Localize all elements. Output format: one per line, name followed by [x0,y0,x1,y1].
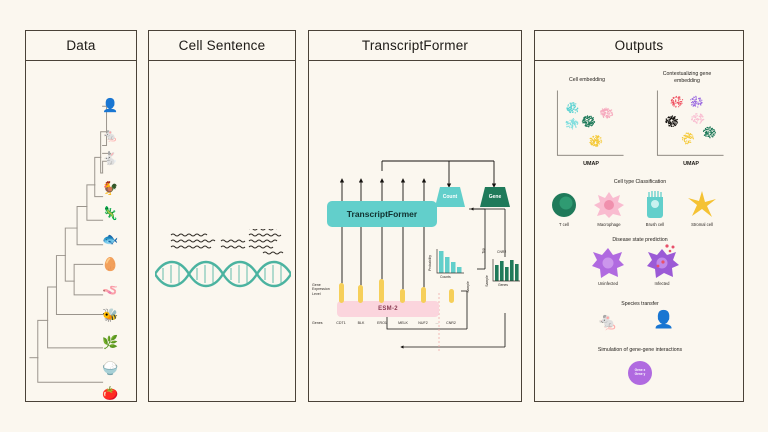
gene-name-label: ERO1 [377,321,387,325]
umap-cell-embedding [549,89,629,161]
sampled-gene-bar [449,289,454,303]
gene-expression-bar [358,285,363,303]
esm2-box: ESM-2 [337,301,439,317]
brush-cell-icon [643,191,667,219]
gene-head-label: Gene [489,194,502,200]
species-icon-tomato: 🍅 [102,387,118,400]
phylogenetic-tree [26,61,136,401]
cell-embedding-title: Cell embedding [569,77,605,83]
stromal-cell-icon [687,189,717,219]
gene-interaction-badge: Gene x Gene y [628,361,652,385]
genes-chart-xlabel: Genes [498,283,508,287]
counts-chart-ylabel: Probability [428,255,432,271]
species-icon-human: 👤 [102,99,118,112]
species-transfer-title: Species transfer [621,301,658,307]
infected-label: Infected [655,281,670,286]
panel-cell-sentence: Cell Sentence [148,30,296,402]
gene-head: Gene [480,187,510,207]
panel-outputs-title: Outputs [615,38,664,53]
cell-type-classification-title: Cell type Classification [614,179,666,185]
panel-outputs-body: Cell embedding Contextualizing gene embe… [535,61,743,401]
species-icon-yeast: 🍚 [102,362,118,375]
gene-name-label: MELK [398,321,408,325]
figure-root: Data [0,0,768,432]
panel-data-body: 👤 🐁 🐇 🐓 🦎 🐟 🥚 🪱 🐝 🌿 🍚 🍅 [26,61,136,401]
species-icon-rabbit: 🐇 [102,152,118,165]
gene-name-label: BLK [358,321,365,325]
macrophage-label: Macrophage [597,222,620,227]
panel-transcriptformer: TranscriptFormer [308,30,522,402]
count-head-label: Count [443,194,457,200]
species-transfer-mouse-icon: 🐁 [597,313,618,330]
t-cell-label: T cell [559,222,569,227]
panel-transcriptformer-title: TranscriptFormer [362,38,468,53]
gene-name-label: NUF2 [418,321,427,325]
uninfected-cell-icon [591,247,625,279]
panel-outputs-header: Outputs [535,31,743,61]
gene-expression-axis-label: Gene Expression Level [312,283,334,296]
sentence-squiggle-lines [159,229,287,259]
count-head: Count [435,187,465,207]
sample-label-genes: Sample [485,275,489,287]
esm2-label: ESM-2 [378,306,398,312]
species-icon-worm: 🪱 [102,284,118,297]
sampled-gene-label: CNR2 [446,321,456,325]
panel-transcriptformer-body: TranscriptFormer ESM-2 Gene Expression L… [309,61,521,401]
dna-helix-icon [155,257,291,291]
uninfected-label: Uninfected [598,281,618,286]
infected-cell-icon [643,244,681,279]
gene-name-ellipsis: ... [436,321,439,325]
gene-interaction-title: Simulation of gene-gene interactions [598,347,682,353]
transcriptformer-model-label: TranscriptFormer [347,209,417,219]
gene-expression-bar [379,279,384,303]
umap-axis-label-2: UMAP [683,161,699,167]
stromal-cell-label: Stromal cell [691,222,713,227]
panel-outputs: Outputs Cell embedding Contextualizing g… [534,30,744,402]
panel-cell-sentence-header: Cell Sentence [149,31,295,61]
panel-data-title: Data [66,38,95,53]
macrophage-icon [593,191,625,219]
brush-cell-label: Brush cell [646,222,664,227]
gene-embedding-title: Contextualizing gene embedding [652,71,722,84]
t-cell-icon [549,191,579,219]
gene-expression-bar [421,287,426,303]
umap-gene-embedding [649,89,729,161]
genes-chart-title: CNR2 [497,250,506,254]
disease-state-title: Disease state prediction [612,237,667,243]
gene-name-label: CDT1 [336,321,345,325]
species-icon-lizard: 🦎 [102,207,118,220]
sample-label-counts: Sample [466,281,470,293]
species-icon-sea-urchin: 🥚 [102,258,118,271]
panel-cell-sentence-body [149,61,295,401]
panel-cell-sentence-title: Cell Sentence [179,38,266,53]
panel-data: Data [25,30,137,402]
transcriptformer-model-box: TranscriptFormer [327,201,437,227]
gene-expression-bar [339,283,344,303]
top-label: Top [482,248,486,253]
umap-axis-label-1: UMAP [583,161,599,167]
genes-axis-label: Genes [312,321,323,325]
species-icon-coral: 🌿 [102,336,118,349]
species-transfer-human-icon: 👤 [653,311,674,328]
gene-interaction-badge-line-2: Gene y [635,373,646,377]
species-icon-fly: 🐝 [102,309,118,322]
species-icon-mouse: 🐁 [102,129,118,142]
panel-transcriptformer-header: TranscriptFormer [309,31,521,61]
panel-data-header: Data [26,31,136,61]
architecture-connectors [309,61,523,403]
species-icon-fish: 🐟 [102,233,118,246]
counts-chart-xlabel: Counts [440,275,451,279]
gene-expression-bar [400,289,405,303]
species-icon-chicken: 🐓 [102,182,118,195]
